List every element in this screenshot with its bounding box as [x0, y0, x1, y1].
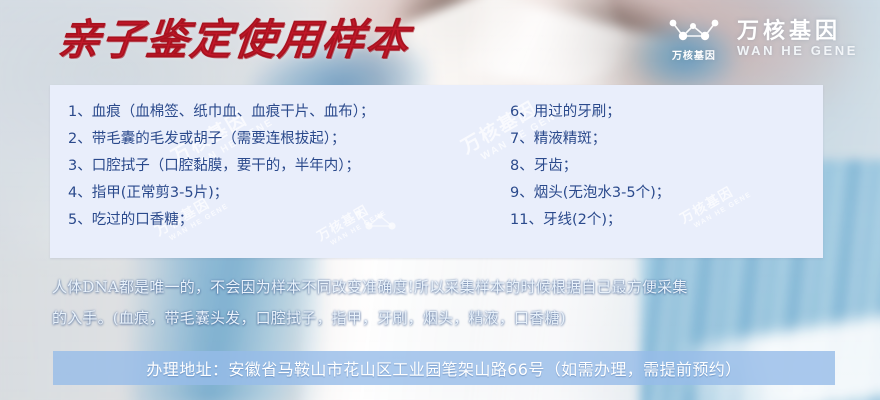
list-item: 7、精液精斑；	[510, 126, 823, 153]
brand-mark-label: 万核基因	[672, 47, 716, 62]
list-item: 11、牙线(2个)；	[510, 207, 823, 234]
sample-column-right: 6、用过的牙刷； 7、精液精斑； 8、牙齿； 9、烟头(无泡水3-5个)； 11…	[502, 99, 823, 258]
sample-columns: 1、血痕（血棉签、纸巾血、血痕干片、血布）； 2、带毛囊的毛发或胡子（需要连根拔…	[50, 85, 823, 258]
brand-mark: 万核基因	[665, 14, 723, 62]
note-line: 的入手。(血痕，带毛囊头发，口腔拭子，指甲，牙刷，烟头，精液，口香糖)	[52, 303, 842, 334]
brand-logo: 万核基因 万核基因 WAN HE GENE	[665, 14, 858, 62]
dna-molecule-icon	[665, 14, 723, 44]
note-line: 人体DNA都是唯一的，不会因为样本不同改变准确度!所以采集样本的时候根据自己最方…	[52, 272, 842, 303]
address-text: 办理地址：安徽省马鞍山市花山区工业园笔架山路66号（如需办理，需提前预约）	[146, 356, 741, 380]
list-item: 6、用过的牙刷；	[510, 99, 823, 126]
list-item: 5、吃过的口香糖；	[68, 207, 502, 234]
poster-root: 亲子鉴定使用样本	[0, 0, 880, 400]
address-bar: 办理地址：安徽省马鞍山市花山区工业园笔架山路66号（如需办理，需提前预约）	[53, 351, 835, 385]
sample-list-panel: 万核基因 WAN HE GENE 万核基因 WAN HE GENE 万核基因 W…	[50, 85, 823, 258]
list-item: 8、牙齿；	[510, 153, 823, 180]
list-item: 2、带毛囊的毛发或胡子（需要连根拔起）；	[68, 126, 502, 153]
sample-column-left: 1、血痕（血棉签、纸巾血、血痕干片、血布）； 2、带毛囊的毛发或胡子（需要连根拔…	[50, 99, 502, 258]
list-item: 1、血痕（血棉签、纸巾血、血痕干片、血布）；	[68, 99, 502, 126]
page-title: 亲子鉴定使用样本	[56, 20, 412, 62]
note-paragraph: 人体DNA都是唯一的，不会因为样本不同改变准确度!所以采集样本的时候根据自己最方…	[52, 272, 842, 334]
list-item: 3、口腔拭子（口腔黏膜，要干的，半年内）；	[68, 153, 502, 180]
list-item: 9、烟头(无泡水3-5个)；	[510, 180, 823, 207]
brand-name-cn: 万核基因	[737, 19, 858, 42]
list-item: 4、指甲(正常剪3-5片)；	[68, 180, 502, 207]
brand-name-en: WAN HE GENE	[737, 44, 858, 58]
brand-wordmark: 万核基因 WAN HE GENE	[737, 19, 858, 58]
